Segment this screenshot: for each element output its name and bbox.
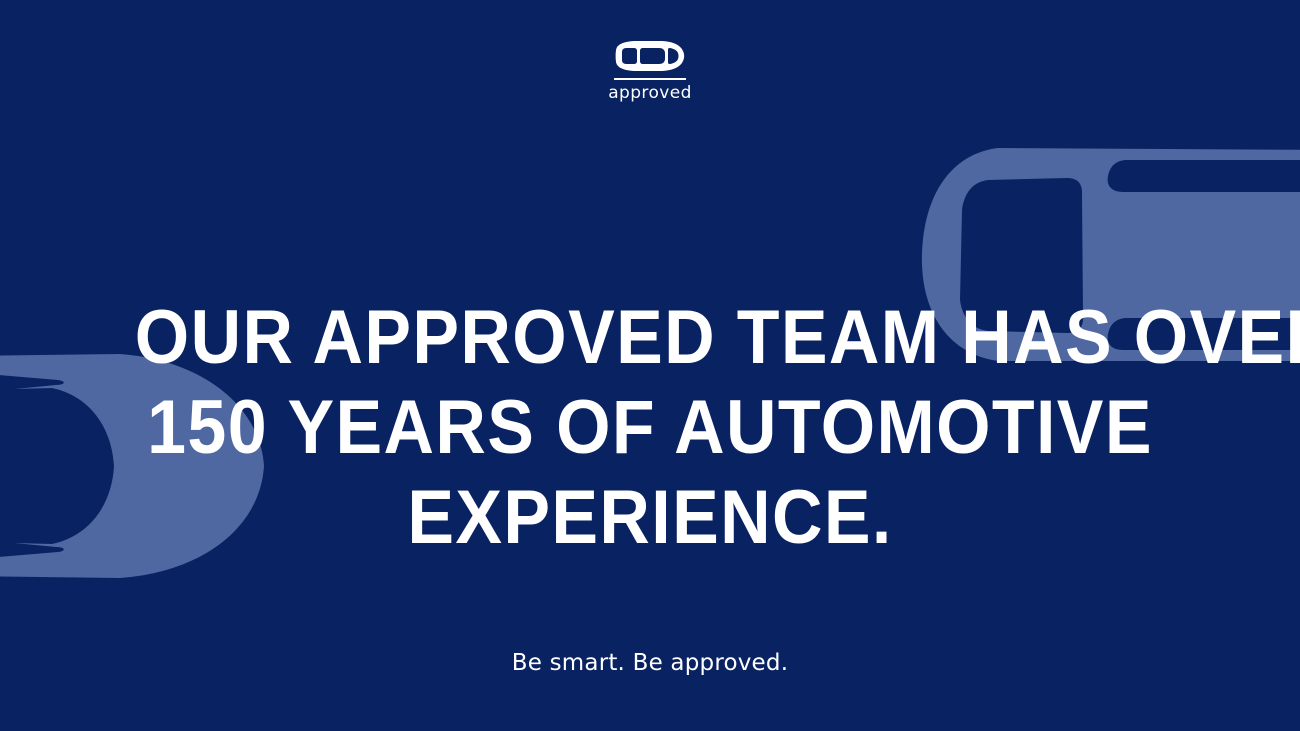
headline-line-3: EXPERIENCE. [135, 473, 1165, 563]
logo-divider [614, 78, 686, 80]
headline-line-2: 150 YEARS OF AUTOMOTIVE [135, 383, 1165, 473]
car-top-view-icon [615, 40, 685, 72]
headline-line-1: OUR APPROVED TEAM HAS OVER [135, 293, 1165, 383]
slide-canvas: approved OUR APPROVED TEAM HAS OVER 150 … [0, 0, 1300, 731]
page-title: OUR APPROVED TEAM HAS OVER 150 YEARS OF … [90, 293, 1210, 563]
brand-logo: approved [0, 40, 1300, 102]
tagline: Be smart. Be approved. [0, 652, 1300, 675]
logo-wordmark: approved [608, 85, 692, 102]
